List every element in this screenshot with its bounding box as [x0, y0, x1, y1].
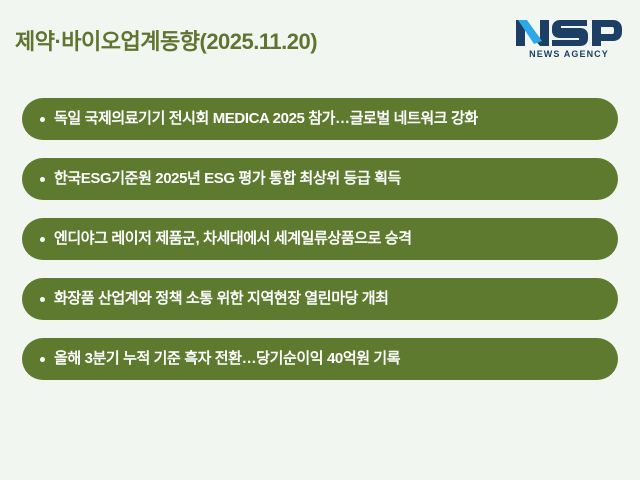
headline-list: 독일 국제의료기기 전시회 MEDICA 2025 참가…글로벌 네트워크 강화… [0, 98, 640, 380]
nsp-logo-subtitle: NEWS AGENCY [514, 48, 624, 60]
headline-text: 독일 국제의료기기 전시회 MEDICA 2025 참가…글로벌 네트워크 강화 [54, 109, 598, 129]
card-header: 제약·바이오업계동향(2025.11.20) NEWS AGENCY [0, 0, 640, 88]
bullet-dot-icon [40, 117, 45, 122]
headline-text: 올해 3분기 누적 기준 흑자 전환…당기순이익 40억원 기록 [54, 349, 598, 369]
nsp-logo: NEWS AGENCY [514, 18, 624, 64]
headline-text: 화장품 산업계와 정책 소통 위한 지역현장 열린마당 개최 [54, 289, 598, 309]
page-title: 제약·바이오업계동향(2025.11.20) [15, 27, 317, 57]
nsp-wordmark-icon [514, 18, 624, 48]
list-item[interactable]: 올해 3분기 누적 기준 흑자 전환…당기순이익 40억원 기록 [22, 338, 618, 380]
list-item[interactable]: 한국ESG기준원 2025년 ESG 평가 통합 최상위 등급 획득 [22, 158, 618, 200]
headline-text: 엔디야그 레이저 제품군, 차세대에서 세계일류상품으로 승격 [54, 229, 598, 249]
list-item[interactable]: 엔디야그 레이저 제품군, 차세대에서 세계일류상품으로 승격 [22, 218, 618, 260]
bullet-dot-icon [40, 177, 45, 182]
bullet-dot-icon [40, 297, 45, 302]
headline-text: 한국ESG기준원 2025년 ESG 평가 통합 최상위 등급 획득 [54, 169, 598, 189]
bullet-dot-icon [40, 237, 45, 242]
news-summary-card: 제약·바이오업계동향(2025.11.20) NEWS AGENCY 독 [0, 0, 640, 480]
list-item[interactable]: 독일 국제의료기기 전시회 MEDICA 2025 참가…글로벌 네트워크 강화 [22, 98, 618, 140]
bullet-dot-icon [40, 357, 45, 362]
list-item[interactable]: 화장품 산업계와 정책 소통 위한 지역현장 열린마당 개최 [22, 278, 618, 320]
